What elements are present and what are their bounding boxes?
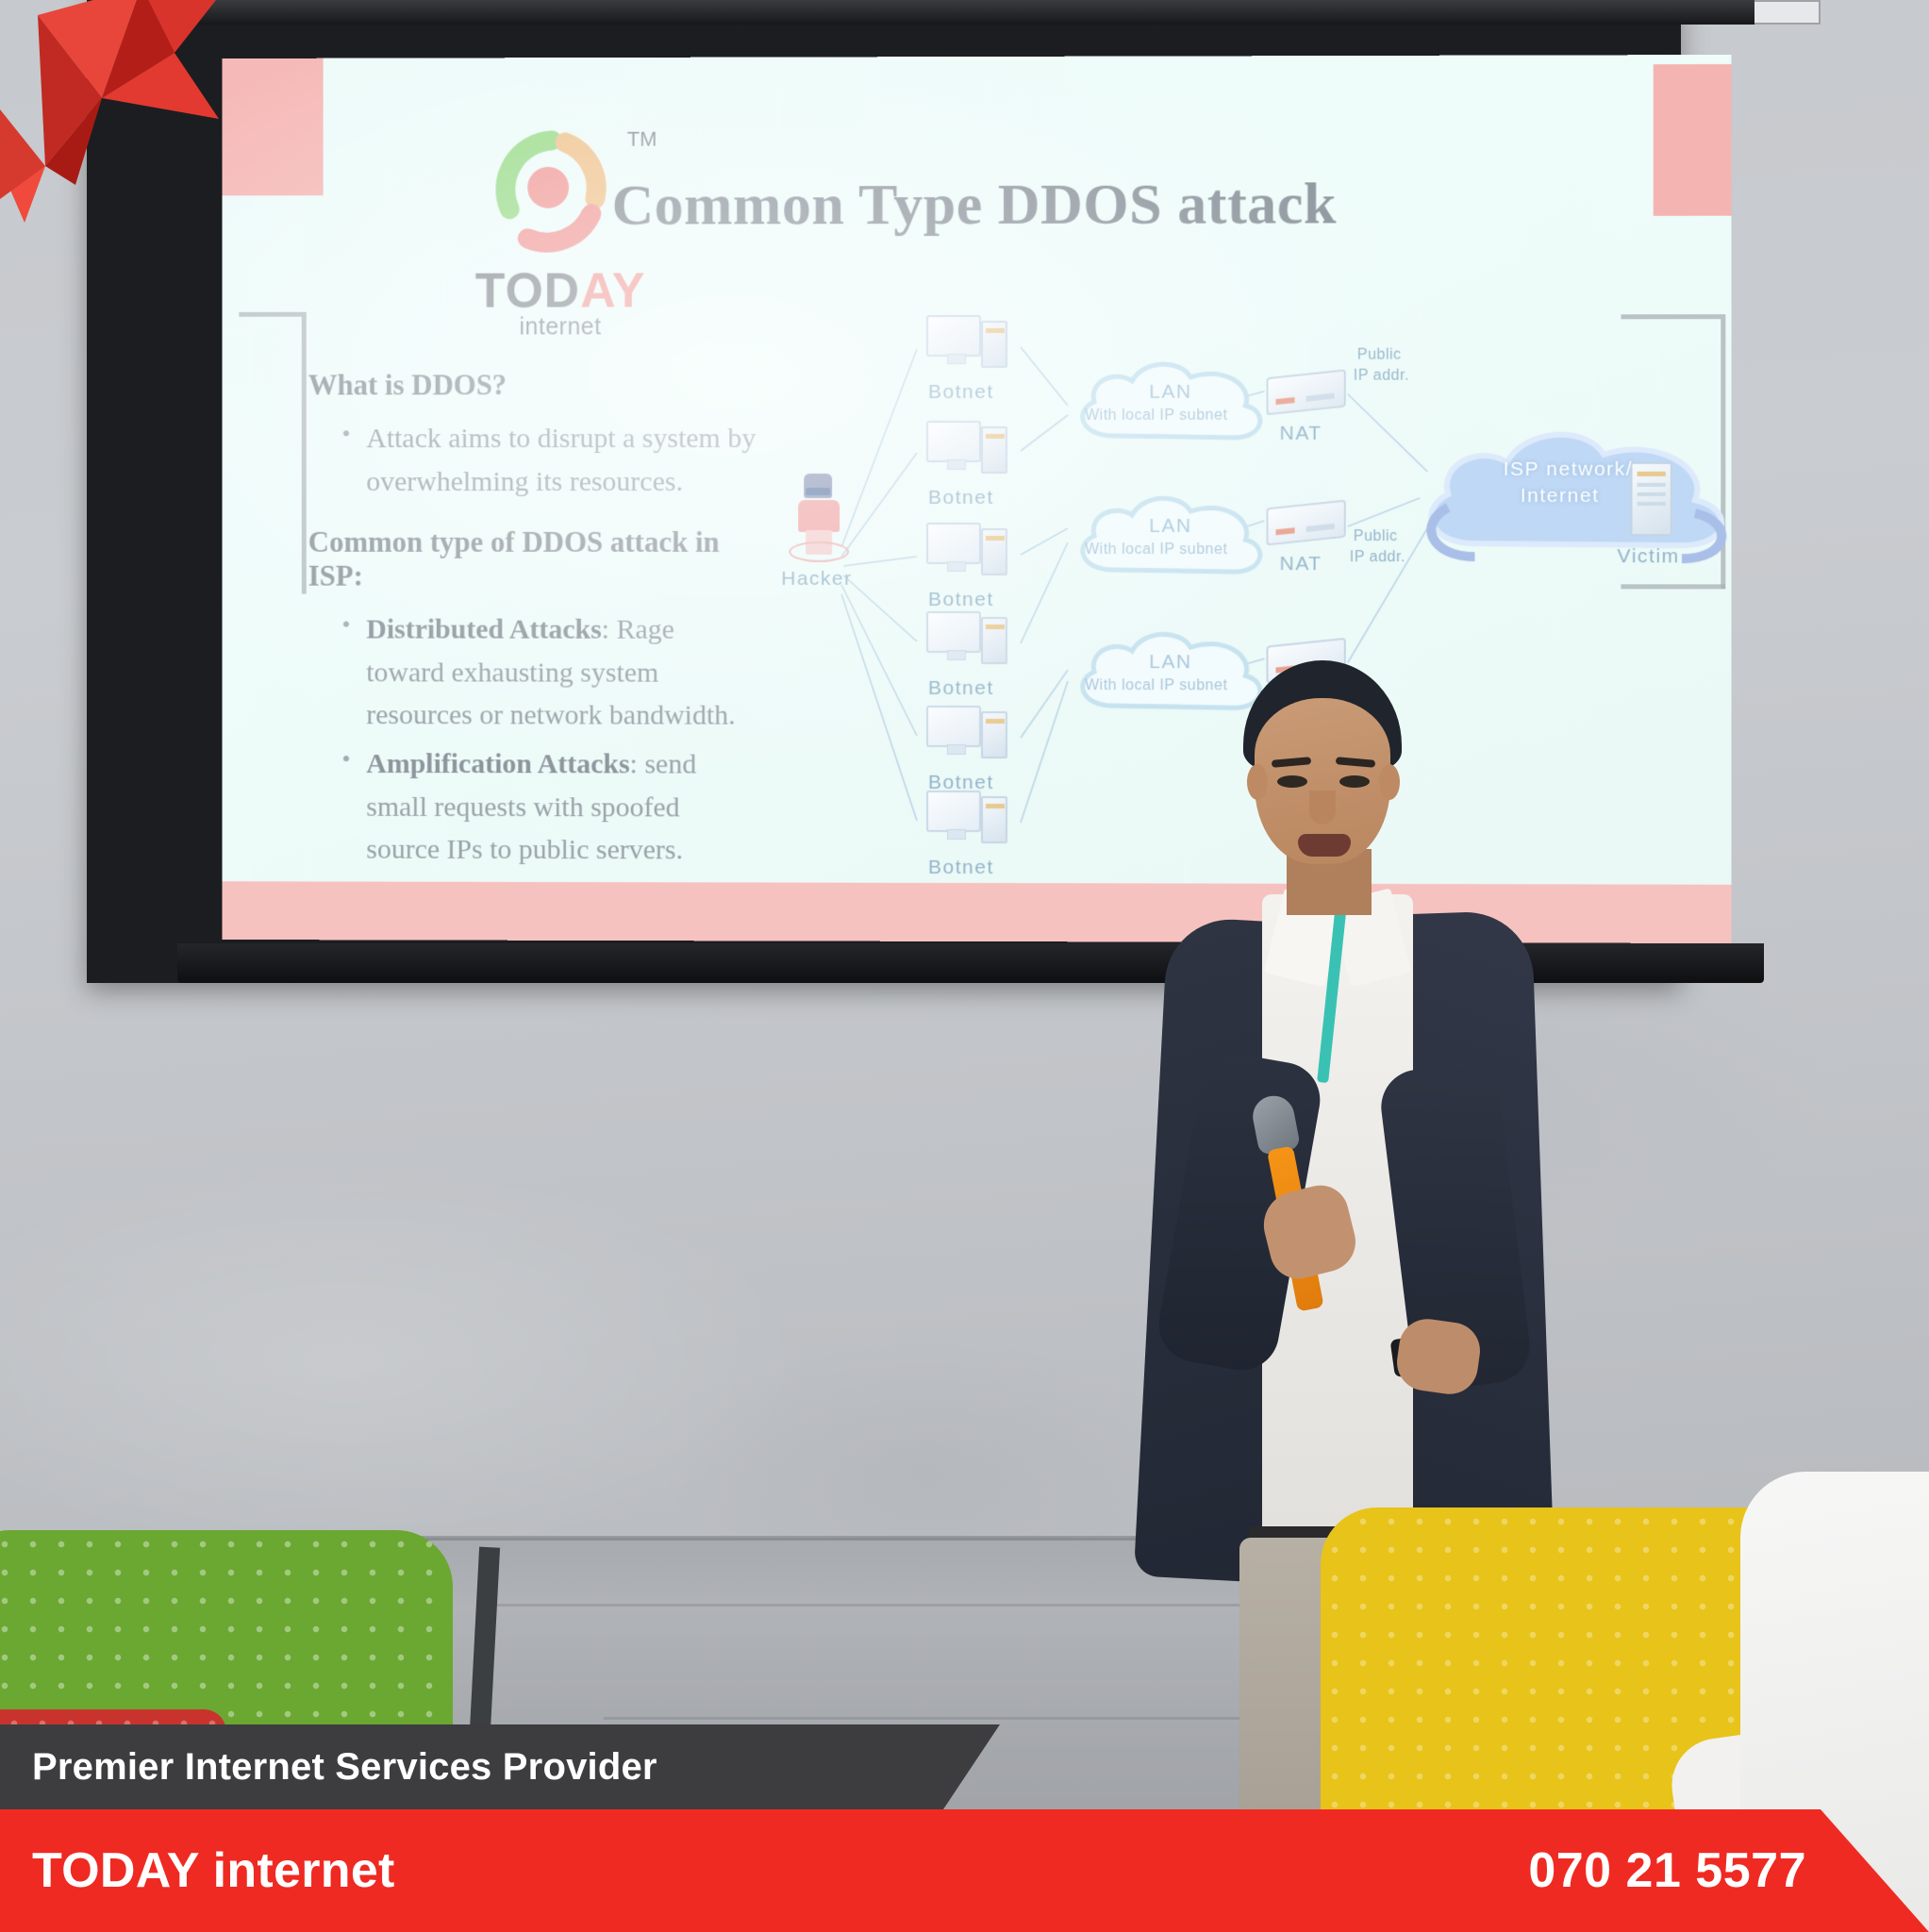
conference-room-scene: TM TODAY internet Common Type DDOS attac… <box>0 0 1929 1932</box>
logo-word-today: TOD <box>475 264 580 319</box>
bullet-lead: Amplification Attacks <box>366 748 629 779</box>
brand-banner: TODAY internet 070 21 5577 <box>0 1809 1929 1932</box>
bullet-item: Amplification Attacks: send small reques… <box>341 742 758 872</box>
botnet-pc-icon <box>926 789 1013 847</box>
lan-cloud-icon <box>1064 357 1291 455</box>
logo-trademark: TM <box>627 127 657 152</box>
nat-label: NAT <box>1280 423 1322 445</box>
bullet-item: Attack aims to disrupt a system by overw… <box>341 417 758 503</box>
botnet-label: Botnet <box>928 487 994 509</box>
botnet-pc-icon <box>926 313 1013 372</box>
red-polygon-logo-shards <box>0 0 274 251</box>
botnet-pc-icon <box>926 609 1013 668</box>
eye-right <box>1339 775 1370 788</box>
slide-deco-bracket-left <box>239 312 306 594</box>
victim-label: Victim <box>1617 545 1679 568</box>
section-heading-1: What is DDOS? <box>308 368 759 402</box>
bullet-lead: Distributed Attacks <box>366 614 601 645</box>
botnet-pc-icon <box>926 704 1013 762</box>
public-ip-label: IP addr. <box>1350 549 1405 566</box>
lan-subtitle-label: With local IP subnet <box>1085 541 1227 558</box>
nose <box>1309 791 1336 824</box>
bullet-list-1: Attack aims to disrupt a system by overw… <box>308 417 759 503</box>
botnet-label: Botnet <box>928 677 994 700</box>
nat-label: NAT <box>1280 553 1322 575</box>
isp-network-label: Internet <box>1521 485 1600 508</box>
lan-subtitle-label: With local IP subnet <box>1085 408 1227 425</box>
brand-name: TODAY internet <box>32 1842 395 1899</box>
section-heading-2: Common type of DDOS attack in ISP: <box>308 525 759 593</box>
logo-wordmark: TODAY <box>443 262 678 319</box>
public-ip-label: Public <box>1357 347 1402 364</box>
tagline-banner: Premier Internet Services Provider <box>0 1724 1000 1809</box>
screen-roller <box>198 0 1754 25</box>
botnet-label: Botnet <box>928 589 994 611</box>
botnet-label: Botnet <box>928 381 994 404</box>
hacker-figure-icon <box>789 474 849 560</box>
hacker-base-disc <box>789 541 849 562</box>
tagline-text: Premier Internet Services Provider <box>32 1746 657 1789</box>
phone-number: 070 21 5577 <box>1528 1842 1806 1899</box>
botnet-pc-icon <box>926 419 1013 477</box>
isp-network-label: ISP network/ <box>1504 458 1634 481</box>
hacker-label: Hacker <box>781 568 852 591</box>
lan-title-label: LAN <box>1149 515 1191 538</box>
eye-left <box>1277 775 1307 788</box>
ear-right <box>1379 764 1400 800</box>
slide-body-text: What is DDOS? Attack aims to disrupt a s… <box>308 368 759 877</box>
bullet-item: Distributed Attacks: Rage toward exhaust… <box>341 608 758 738</box>
slide-deco-pink-right <box>1654 64 1732 216</box>
logo-word-ay: AY <box>580 263 645 318</box>
botnet-pc-icon <box>926 521 1013 579</box>
botnet-label: Botnet <box>928 857 994 879</box>
public-ip-label: Public <box>1354 528 1398 545</box>
hacker-body <box>798 500 840 532</box>
logo-subtitle: internet <box>443 313 678 341</box>
mouth <box>1298 834 1351 857</box>
victim-server-icon <box>1631 462 1672 536</box>
slide-title: Common Type DDOS attack <box>503 171 1446 240</box>
bullet-text: Attack aims to disrupt a system by overw… <box>366 423 756 497</box>
bullet-list-2: Distributed Attacks: Rage toward exhaust… <box>308 608 759 873</box>
ear-left <box>1247 764 1268 800</box>
public-ip-label: IP addr. <box>1354 368 1409 385</box>
lan-cloud-icon <box>1064 491 1291 589</box>
lan-title-label: LAN <box>1149 381 1191 404</box>
hacker-visor <box>806 488 830 495</box>
